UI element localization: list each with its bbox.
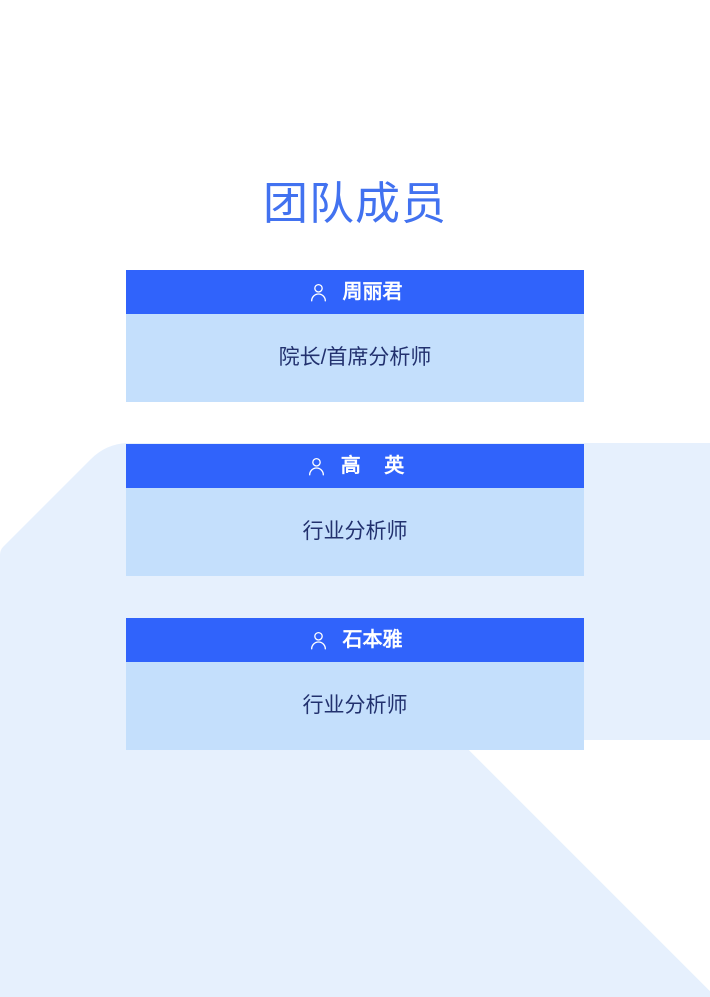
member-name: 周丽君 bbox=[343, 282, 403, 303]
member-card-header: 石本雅 bbox=[126, 618, 584, 662]
member-card-header: 高 英 bbox=[126, 444, 584, 488]
member-card-list: 周丽君 院长/首席分析师 高 英 行业分析师 bbox=[126, 270, 584, 750]
member-card[interactable]: 高 英 行业分析师 bbox=[126, 444, 584, 576]
member-card-body: 行业分析师 bbox=[126, 488, 584, 576]
page-title: 团队成员 bbox=[0, 178, 710, 230]
person-icon bbox=[306, 456, 327, 477]
member-name: 高 英 bbox=[341, 456, 414, 477]
person-icon bbox=[308, 630, 329, 651]
member-card[interactable]: 石本雅 行业分析师 bbox=[126, 618, 584, 750]
team-members-page: 团队成员 周丽君 院长/首席分析师 高 英 bbox=[0, 0, 710, 997]
member-role: 行业分析师 bbox=[303, 693, 408, 719]
member-card-body: 院长/首席分析师 bbox=[126, 314, 584, 402]
member-card[interactable]: 周丽君 院长/首席分析师 bbox=[126, 270, 584, 402]
member-card-header: 周丽君 bbox=[126, 270, 584, 314]
member-name: 石本雅 bbox=[343, 630, 403, 651]
member-role: 行业分析师 bbox=[303, 519, 408, 545]
member-card-body: 行业分析师 bbox=[126, 662, 584, 750]
person-icon bbox=[308, 282, 329, 303]
member-role: 院长/首席分析师 bbox=[279, 345, 432, 371]
